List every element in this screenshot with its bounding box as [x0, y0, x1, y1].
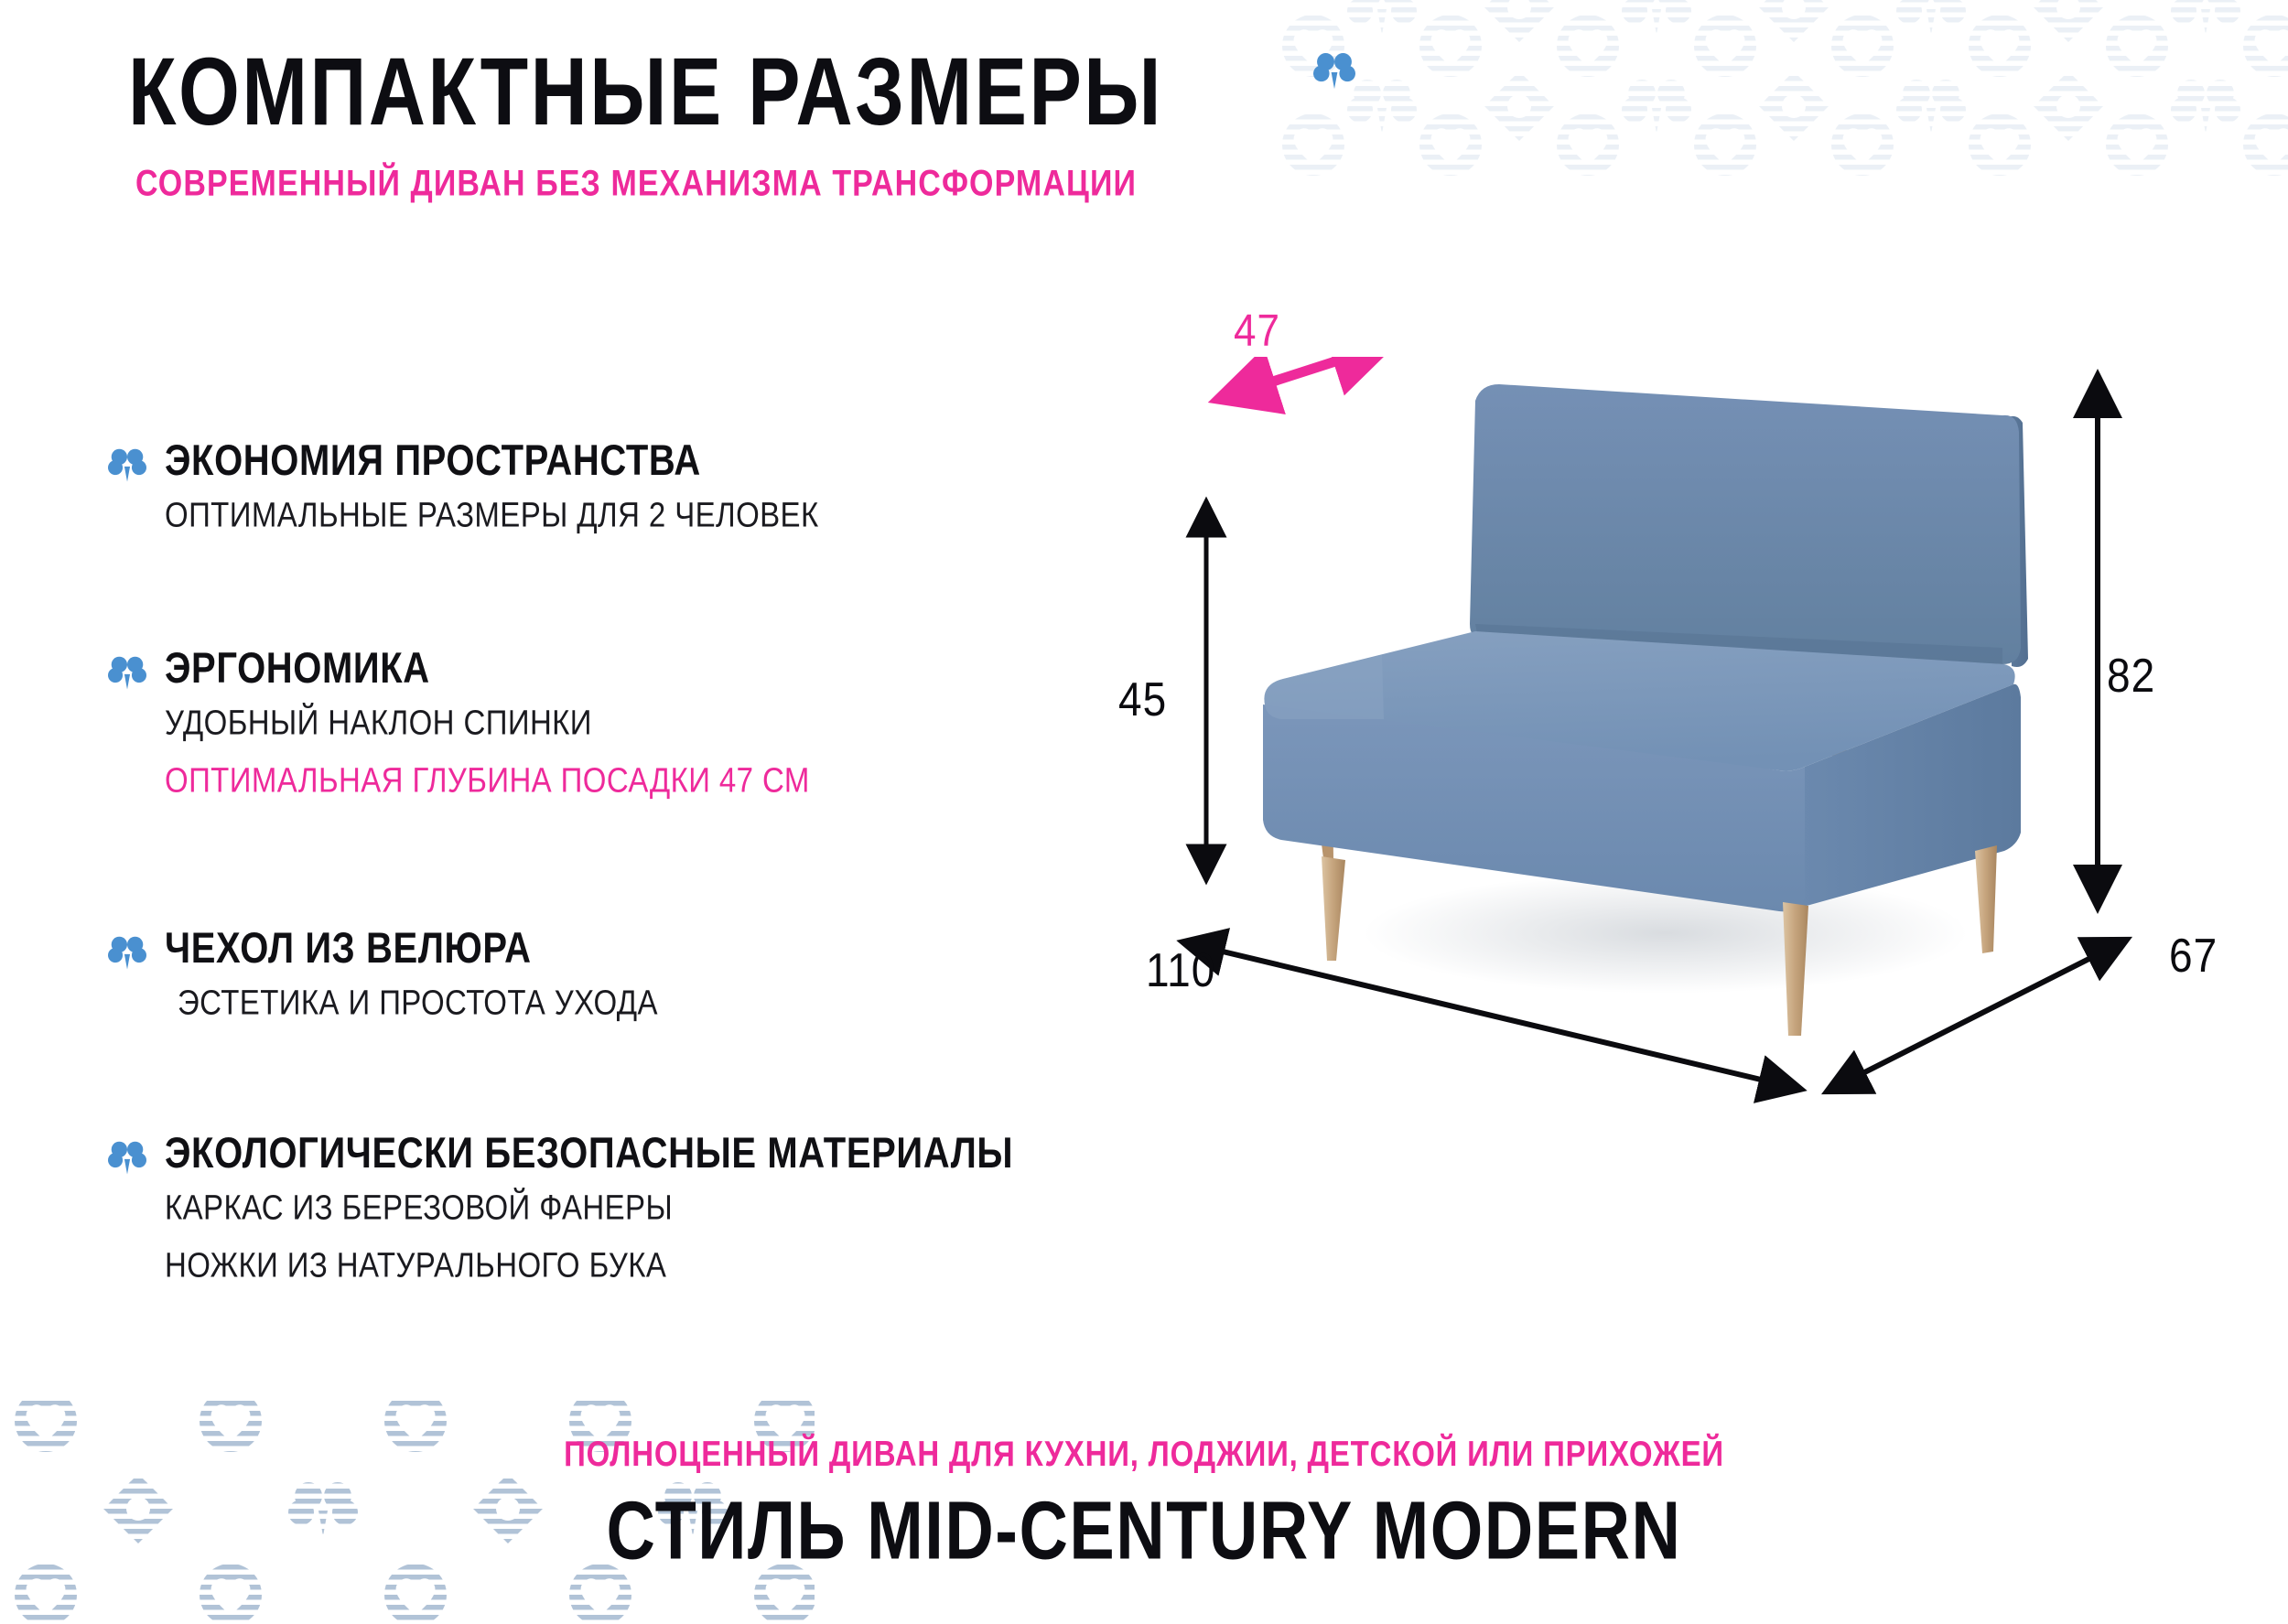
dimension-label-seat-depth: 47: [1234, 306, 1280, 357]
feature-title: ЧЕХОЛ ИЗ ВЕЛЮРА: [165, 927, 1188, 970]
dim-arrow-width: [1184, 942, 1799, 1089]
feature-subtitle: НОЖКИ ИЗ НАТУРАЛЬНОГО БУКА: [165, 1241, 1188, 1290]
clover-icon: [1313, 48, 1355, 93]
dimension-arrows: [1153, 357, 2279, 1107]
footer: ПОЛНОЦЕННЫЙ ДИВАН ДЛЯ КУХНИ, ЛОДЖИИ, ДЕТ…: [0, 1436, 2288, 1569]
product-dimension-area: 47 45 110 67 82: [1153, 357, 2279, 1107]
dim-arrow-seat-depth: [1219, 357, 1389, 399]
feature-subtitle: ОПТИМАЛЬНЫЕ РАЗМЕРЫ ДЛЯ 2 ЧЕЛОВЕК: [165, 490, 1188, 540]
feature-item-ergonomics: ЭРГОНОМИКА УДОБНЫЙ НАКЛОН СПИНКИ ОПТИМАЛ…: [108, 647, 1188, 799]
feature-subtitle: УДОБНЫЙ НАКЛОН СПИНКИ: [165, 698, 1188, 747]
decorative-pattern-top-right: [1272, 0, 2288, 201]
dim-arrow-depth: [1829, 941, 2125, 1091]
dimension-label-width: 110: [1146, 942, 1215, 997]
clover-bullet-icon: [108, 445, 146, 485]
feature-subtitle: ЭСТЕТИКА И ПРОСТОТА УХОДА: [178, 978, 1188, 1027]
infographic-canvas: КОМПАКТНЫЕ РАЗМЕРЫ СОВРЕМЕННЫЙ ДИВАН БЕЗ…: [0, 0, 2288, 1624]
dimension-label-depth: 67: [2169, 928, 2218, 983]
clover-bullet-icon: [108, 1137, 146, 1178]
header: КОМПАКТНЫЕ РАЗМЕРЫ: [128, 44, 1163, 123]
feature-list: ЭКОНОМИЯ ПРОСТРАНСТВА ОПТИМАЛЬНЫЕ РАЗМЕР…: [108, 439, 1188, 1351]
dimension-label-seat-height: 45: [1118, 672, 1167, 726]
feature-item-eco-materials: ЭКОЛОГИЧЕСКИ БЕЗОПАСНЫЕ МАТЕРИАЛЫ КАРКАС…: [108, 1132, 1188, 1284]
dimension-label-total-height: 82: [2107, 648, 2155, 703]
page-title: КОМПАКТНЫЕ РАЗМЕРЫ: [128, 44, 1163, 140]
feature-title: ЭКОНОМИЯ ПРОСТРАНСТВА: [165, 439, 1188, 482]
feature-item-space-saving: ЭКОНОМИЯ ПРОСТРАНСТВА ОПТИМАЛЬНЫЕ РАЗМЕР…: [108, 439, 1188, 533]
clover-bullet-icon: [108, 652, 146, 693]
feature-subtitle: КАРКАС ИЗ БЕРЕЗОВОЙ ФАНЕРЫ: [165, 1183, 1188, 1232]
feature-title: ЭРГОНОМИКА: [165, 647, 1188, 690]
feature-title: ЭКОЛОГИЧЕСКИ БЕЗОПАСНЫЕ МАТЕРИАЛЫ: [165, 1132, 1188, 1175]
footer-tagline: ПОЛНОЦЕННЫЙ ДИВАН ДЛЯ КУХНИ, ЛОДЖИИ, ДЕТ…: [0, 1434, 2288, 1475]
page-subtitle: СОВРЕМЕННЫЙ ДИВАН БЕЗ МЕХАНИЗМА ТРАНСФОР…: [135, 163, 1137, 205]
feature-item-velour-cover: ЧЕХОЛ ИЗ ВЕЛЮРА ЭСТЕТИКА И ПРОСТОТА УХОД…: [108, 927, 1188, 1021]
footer-style-line: СТИЛЬ MID-CENTURY MODERN: [0, 1483, 2288, 1578]
clover-bullet-icon: [108, 932, 146, 973]
feature-subtitle-accent: ОПТИМАЛЬНАЯ ГЛУБИНА ПОСАДКИ 47 СМ: [165, 756, 1188, 805]
